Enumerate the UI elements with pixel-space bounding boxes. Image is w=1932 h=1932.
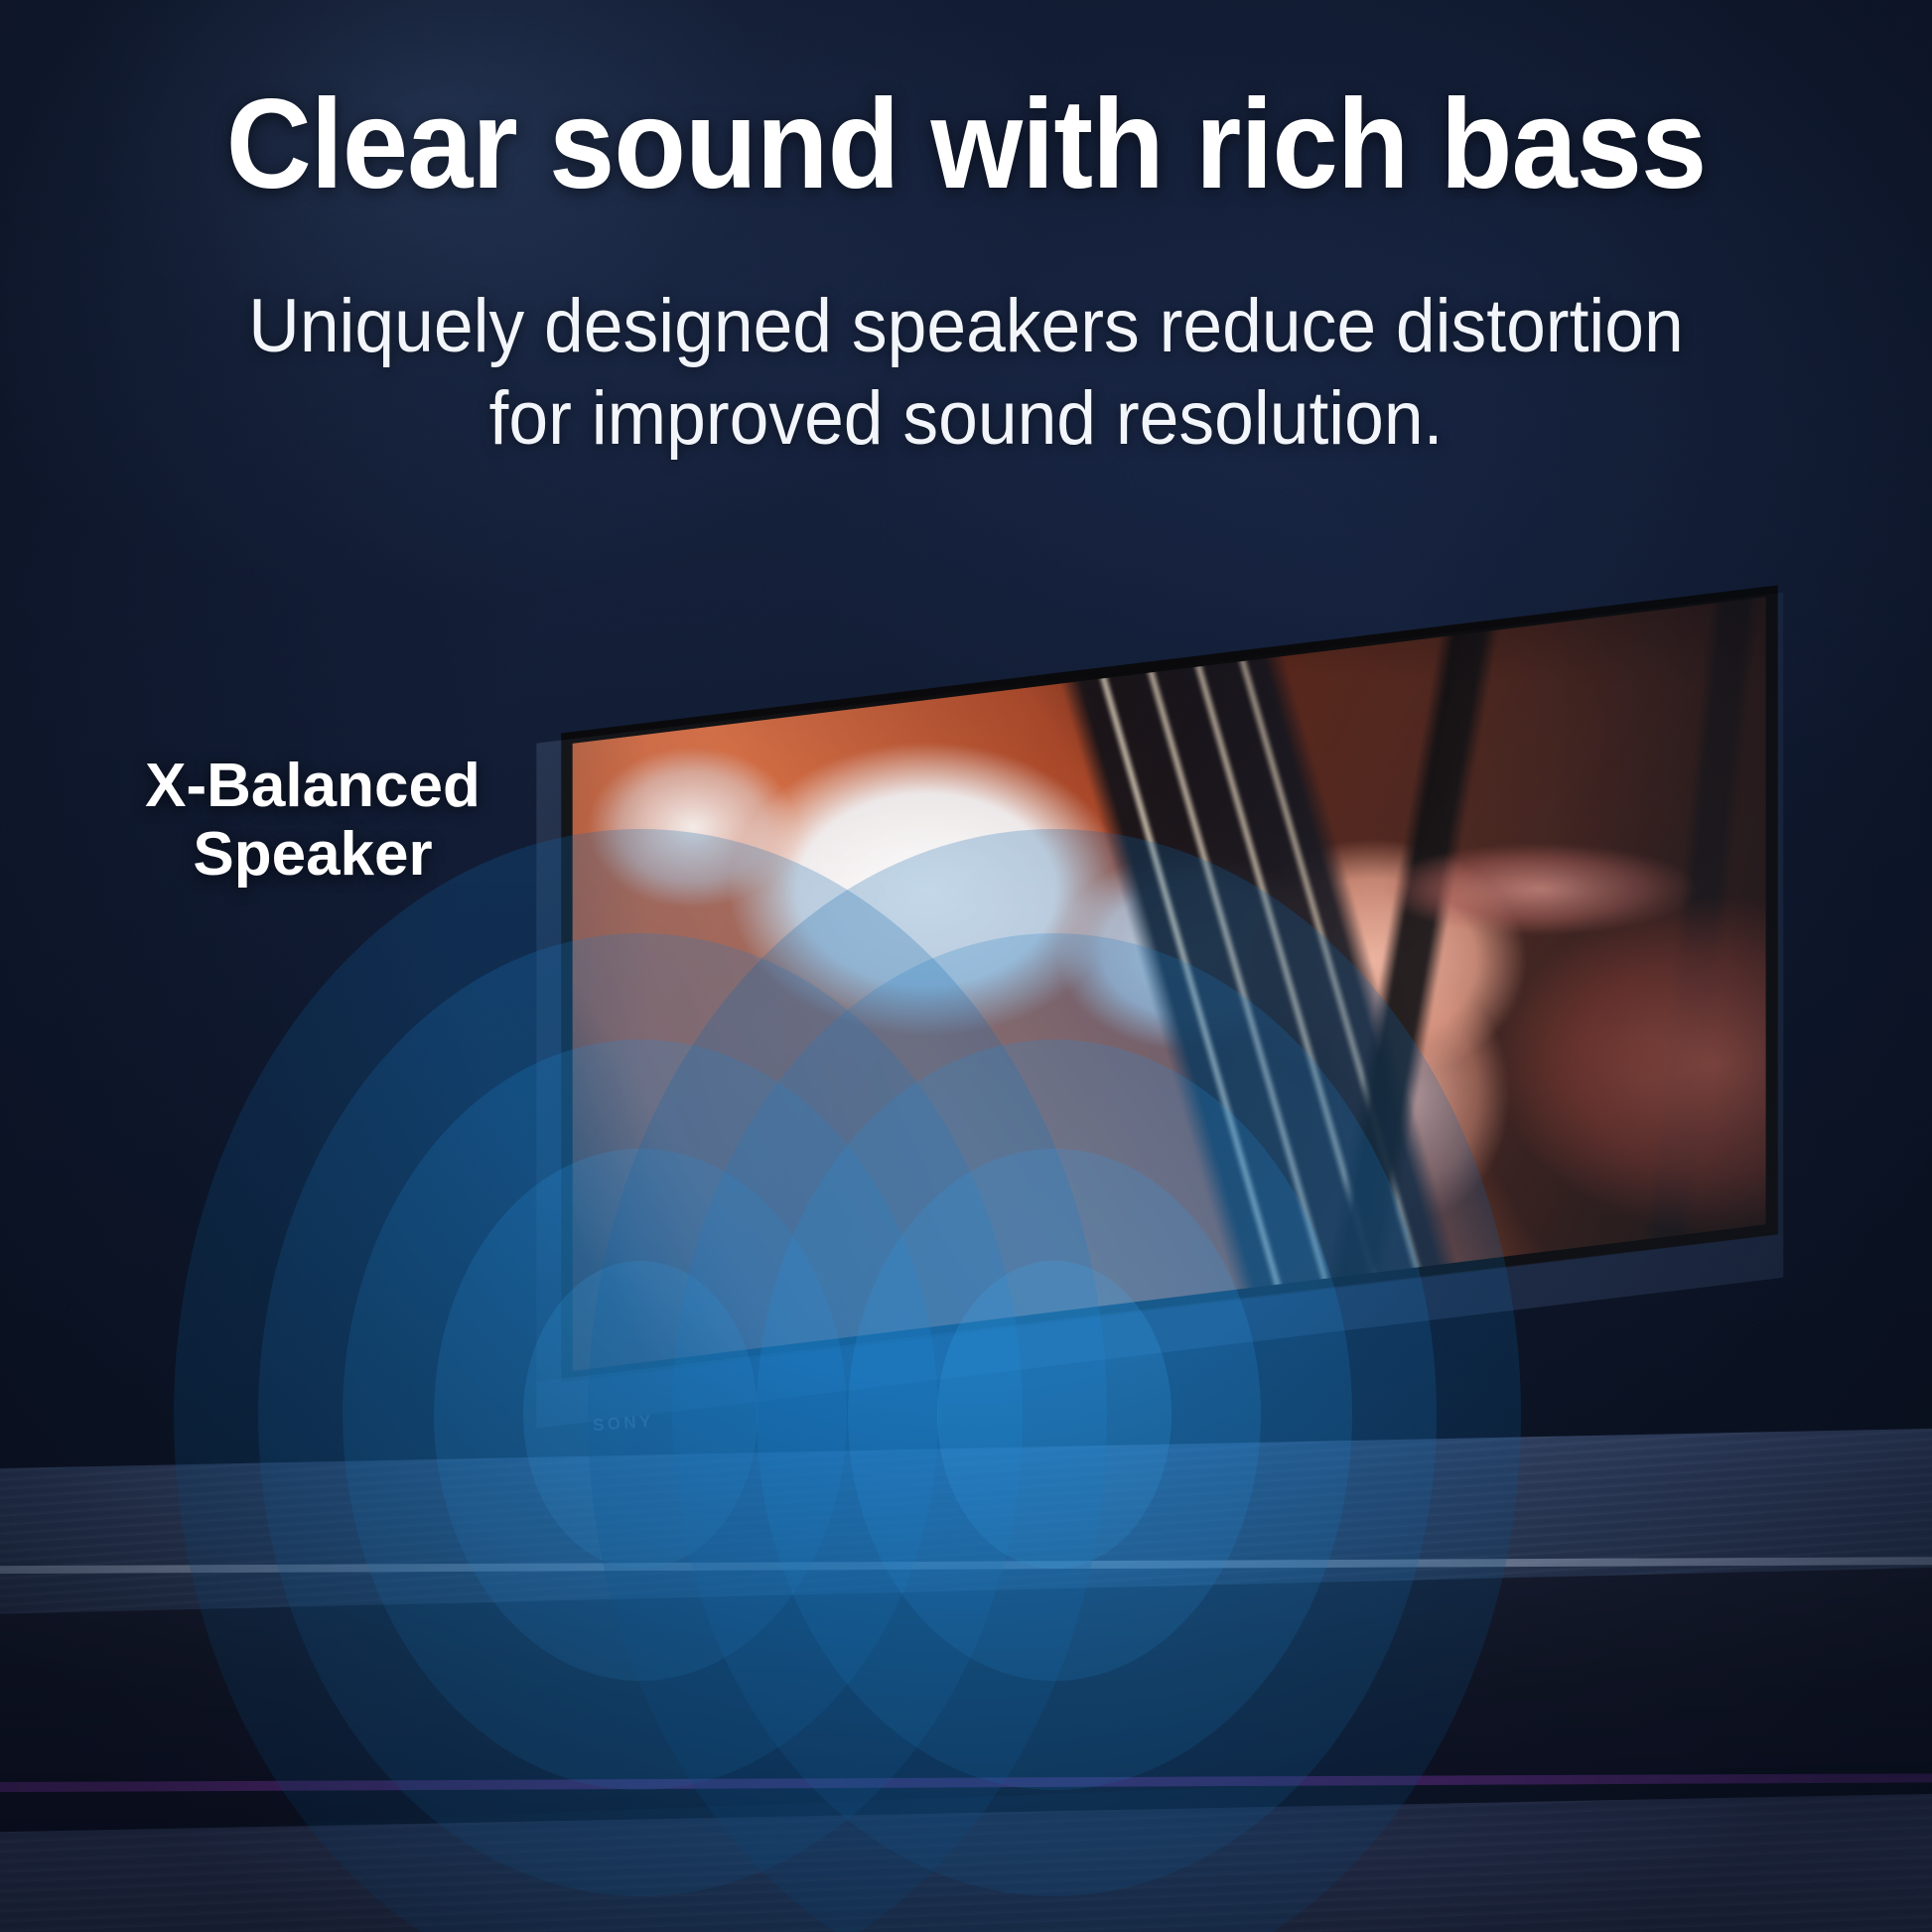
feature-label-line-2: Speaker	[99, 820, 526, 889]
subtitle: Uniquely designed speakers reduce distor…	[58, 280, 1873, 466]
promo-scene: SONY Clear sound with rich bass Uniquely…	[0, 0, 1932, 1932]
subtitle-line-1: Uniquely designed speakers reduce distor…	[58, 280, 1873, 372]
page-title: Clear sound with rich bass	[68, 77, 1864, 212]
feature-callout-x-balanced-speaker: X-Balanced Speaker	[99, 752, 526, 890]
subtitle-line-2: for improved sound resolution.	[58, 372, 1873, 465]
feature-label-line-1: X-Balanced	[99, 752, 526, 820]
